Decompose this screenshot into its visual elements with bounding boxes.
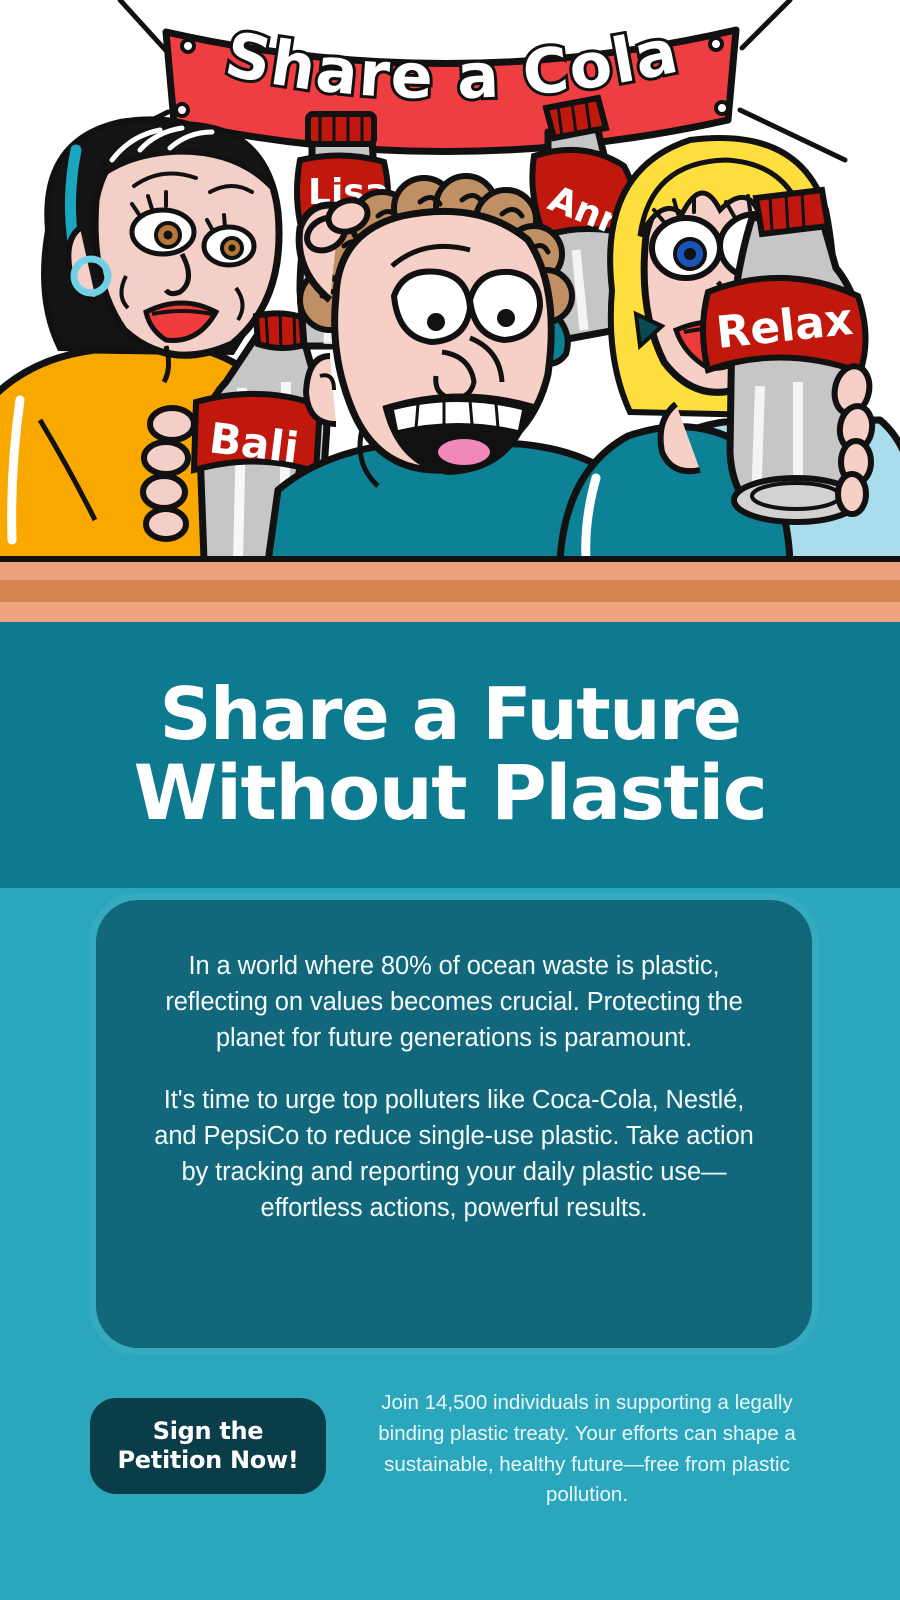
description-paragraph-2: It's time to urge top polluters like Coc… — [140, 1082, 768, 1227]
body-section: In a world where 80% of ocean waste is p… — [0, 888, 900, 1600]
description-card: In a world where 80% of ocean waste is p… — [96, 900, 812, 1348]
divider-band-middle — [0, 580, 900, 602]
cta-section: Sign the Petition Now! Join 14,500 indiv… — [0, 1388, 900, 1568]
headline-section: Share a Future Without Plastic — [0, 622, 900, 888]
description-paragraph-1: In a world where 80% of ocean waste is p… — [140, 948, 768, 1057]
sign-petition-button[interactable]: Sign the Petition Now! — [90, 1398, 326, 1494]
divider-band-bottom — [0, 602, 900, 622]
divider-band-top — [0, 562, 900, 580]
headline-line-2: Without Plastic — [134, 756, 767, 830]
cta-supporting-text: Join 14,500 individuals in supporting a … — [362, 1388, 812, 1511]
hero-illustration: Share a Cola — [0, 0, 900, 562]
headline-line-1: Share a Future — [160, 679, 741, 750]
